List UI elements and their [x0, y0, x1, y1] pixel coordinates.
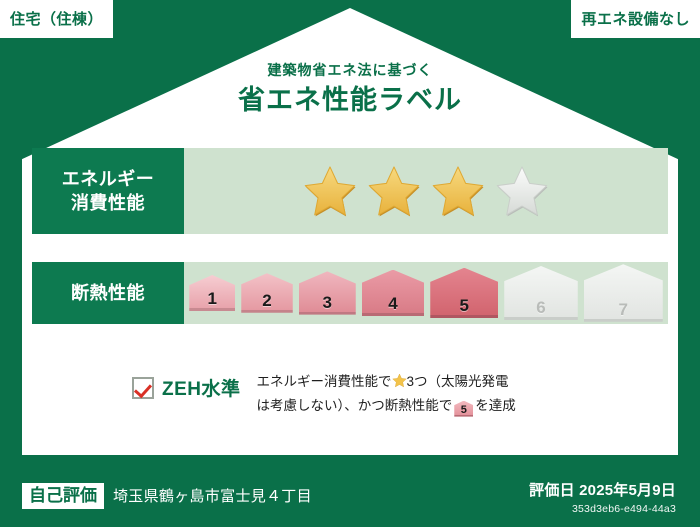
building-type-tab: 住宅（住棟）: [0, 0, 113, 38]
building-type-tab-label: 住宅（住棟）: [10, 12, 103, 27]
inline-grade-badge: 5: [454, 401, 473, 417]
zeh-desc-part2: は考慮しない）、かつ断熱性能で: [257, 398, 453, 413]
insulation-grade-2: 2: [241, 273, 293, 313]
insulation-grade-value: 7: [619, 301, 628, 318]
zeh-description: エネルギー消費性能で 3つ（太陽光発電 は考慮しない）、かつ断熱性能で5を達成: [257, 370, 668, 417]
star-filled-icon: [302, 164, 358, 218]
energy-performance-label: エネルギー 消費性能: [32, 148, 184, 234]
energy-performance-label: 住宅（住棟） 再エネ設備なし 建築物省エネ法に基づく 省エネ性能ラベル エネルギ…: [0, 0, 700, 527]
inline-grade-badge-value: 5: [461, 405, 467, 416]
zeh-desc-star-count: 3つ（太陽光発電: [407, 374, 509, 389]
renewable-energy-tab: 再エネ設備なし: [571, 0, 700, 38]
energy-label-line1: エネルギー: [62, 167, 155, 191]
label-heading: 建築物省エネ法に基づく 省エネ性能ラベル: [0, 62, 700, 118]
insulation-grade-3: 3: [299, 271, 356, 314]
renewable-energy-tab-label: 再エネ設備なし: [581, 12, 690, 27]
zeh-mark: ZEH水準: [132, 374, 241, 401]
insulation-grade-scale: 1234567: [184, 262, 668, 324]
document-id: 353d3eb6-e494-44a3: [529, 503, 676, 515]
insulation-label-text: 断熱性能: [71, 281, 145, 305]
zeh-title: ZEH水準: [162, 374, 241, 401]
insulation-grade-4: 4: [362, 270, 425, 317]
insulation-grade-1: 1: [189, 275, 235, 311]
zeh-desc-part1: エネルギー消費性能で: [257, 374, 392, 389]
heading-subtitle: 建築物省エネ法に基づく: [0, 62, 700, 79]
property-address: 埼玉県鶴ヶ島市富士見４丁目: [113, 485, 312, 506]
check-icon: [132, 377, 154, 399]
insulation-grade-value: 5: [460, 297, 469, 314]
footer-left: 自己評価 埼玉県鶴ヶ島市富士見４丁目: [22, 483, 312, 509]
insulation-grade-value: 4: [388, 295, 397, 312]
evaluation-date: 評価日 2025年5月9日: [529, 479, 676, 500]
insulation-grade-value: 2: [262, 292, 271, 309]
energy-performance-row: エネルギー 消費性能: [32, 148, 668, 234]
insulation-grade-6: 6: [504, 266, 578, 320]
footer-right: 評価日 2025年5月9日 353d3eb6-e494-44a3: [529, 479, 676, 515]
energy-label-line2: 消費性能: [71, 191, 145, 215]
insulation-performance-label: 断熱性能: [32, 262, 184, 324]
insulation-grade-value: 1: [208, 290, 217, 307]
star-filled-icon: [430, 164, 486, 218]
star-empty-icon: [494, 164, 550, 218]
label-footer: 自己評価 埼玉県鶴ヶ島市富士見４丁目 評価日 2025年5月9日 353d3eb…: [0, 455, 700, 527]
insulation-grade-7: 7: [584, 264, 663, 322]
page-title: 省エネ性能ラベル: [0, 84, 700, 118]
insulation-grade-value: 6: [536, 299, 545, 316]
star-filled-icon: [366, 164, 422, 218]
insulation-grade-5: 5: [430, 268, 498, 318]
zeh-desc-part3: を達成: [475, 398, 516, 413]
self-evaluation-badge: 自己評価: [22, 483, 104, 509]
energy-star-rating: [184, 148, 668, 234]
zeh-standard-block: ZEH水準 エネルギー消費性能で 3つ（太陽光発電 は考慮しない）、かつ断熱性能…: [32, 368, 668, 417]
inline-star-icon: [392, 372, 407, 387]
insulation-performance-row: 断熱性能 1234567: [32, 262, 668, 324]
insulation-grade-value: 3: [323, 294, 332, 311]
